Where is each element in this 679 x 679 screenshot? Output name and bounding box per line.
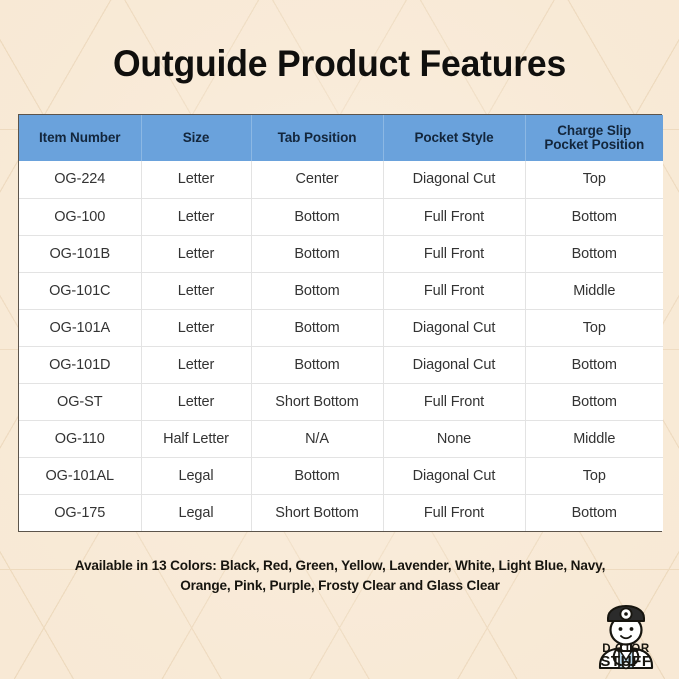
cell-item-number: OG-100 xyxy=(19,198,141,235)
color-note-line-1: Available in 13 Colors: Black, Red, Gree… xyxy=(75,558,605,573)
cell-size: Letter xyxy=(141,309,251,346)
cell-item-number: OG-101A xyxy=(19,309,141,346)
cell-size: Letter xyxy=(141,198,251,235)
cell-charge-slip-pocket-position: Top xyxy=(525,309,663,346)
cell-item-number: OG-101AL xyxy=(19,457,141,494)
cell-tab-position: Center xyxy=(251,161,383,198)
cell-charge-slip-pocket-position: Bottom xyxy=(525,346,663,383)
cell-tab-position: Bottom xyxy=(251,309,383,346)
cell-tab-position: Bottom xyxy=(251,235,383,272)
cell-charge-slip-pocket-position: Middle xyxy=(525,420,663,457)
page-title: Outguide Product Features xyxy=(14,42,666,86)
features-table: Item Number Size Tab Position Pocket Sty… xyxy=(19,115,663,531)
cell-tab-position: Bottom xyxy=(251,272,383,309)
cell-pocket-style: Diagonal Cut xyxy=(383,457,525,494)
table-row: OG-101C Letter Bottom Full Front Middle xyxy=(19,272,663,309)
cell-size: Letter xyxy=(141,161,251,198)
column-header-size: Size xyxy=(141,115,251,161)
cell-tab-position: Short Bottom xyxy=(251,494,383,531)
cell-charge-slip-pocket-position: Bottom xyxy=(525,235,663,272)
table-row: OG-101B Letter Bottom Full Front Bottom xyxy=(19,235,663,272)
cell-tab-position: Bottom xyxy=(251,457,383,494)
color-availability-note: Available in 13 Colors: Black, Red, Gree… xyxy=(70,556,610,596)
cell-size: Letter xyxy=(141,272,251,309)
color-note-line-2: Orange, Pink, Purple, Frosty Clear and G… xyxy=(180,578,500,593)
cell-charge-slip-pocket-position: Bottom xyxy=(525,494,663,531)
cell-size: Legal xyxy=(141,457,251,494)
cell-size: Letter xyxy=(141,346,251,383)
doctor-stuff-logo: ignore D CTOR STUFF xyxy=(583,604,669,674)
cell-charge-slip-pocket-position: Top xyxy=(525,161,663,198)
cell-item-number: OG-101B xyxy=(19,235,141,272)
cell-charge-slip-pocket-position: Middle xyxy=(525,272,663,309)
cell-pocket-style: Diagonal Cut xyxy=(383,161,525,198)
cell-size: Half Letter xyxy=(141,420,251,457)
column-header-line-1: Charge Slip xyxy=(557,123,631,138)
table-row: OG-101AL Legal Bottom Diagonal Cut Top xyxy=(19,457,663,494)
table-header: Item Number Size Tab Position Pocket Sty… xyxy=(19,115,663,161)
cell-pocket-style: Full Front xyxy=(383,383,525,420)
cell-pocket-style: Full Front xyxy=(383,235,525,272)
cell-pocket-style: Diagonal Cut xyxy=(383,309,525,346)
cell-size: Letter xyxy=(141,383,251,420)
cell-size: Legal xyxy=(141,494,251,531)
cell-tab-position: Bottom xyxy=(251,346,383,383)
table-row: OG-101D Letter Bottom Diagonal Cut Botto… xyxy=(19,346,663,383)
cell-pocket-style: Full Front xyxy=(383,198,525,235)
cell-tab-position: N/A xyxy=(251,420,383,457)
cell-item-number: OG-224 xyxy=(19,161,141,198)
table-header-row: Item Number Size Tab Position Pocket Sty… xyxy=(19,115,663,161)
cell-pocket-style: Diagonal Cut xyxy=(383,346,525,383)
cell-tab-position: Bottom xyxy=(251,198,383,235)
cell-pocket-style: Full Front xyxy=(383,494,525,531)
table-row: OG-ST Letter Short Bottom Full Front Bot… xyxy=(19,383,663,420)
cell-item-number: OG-110 xyxy=(19,420,141,457)
column-header-pocket-style: Pocket Style xyxy=(383,115,525,161)
column-header-charge-slip-pocket-position: Charge Slip Pocket Position xyxy=(525,115,663,161)
cell-pocket-style: None xyxy=(383,420,525,457)
poster-content: Outguide Product Features Item Number Si… xyxy=(0,0,679,679)
table-body: OG-224 Letter Center Diagonal Cut Top OG… xyxy=(19,161,663,531)
column-header-tab-position: Tab Position xyxy=(251,115,383,161)
cell-item-number: OG-ST xyxy=(19,383,141,420)
table-row: OG-110 Half Letter N/A None Middle xyxy=(19,420,663,457)
table-row: OG-175 Legal Short Bottom Full Front Bot… xyxy=(19,494,663,531)
column-header-line-2: Pocket Position xyxy=(544,137,644,152)
logo-wordmark-bottom: STUFF xyxy=(583,656,669,667)
cell-size: Letter xyxy=(141,235,251,272)
poster-page: Outguide Product Features Item Number Si… xyxy=(0,0,679,679)
cell-charge-slip-pocket-position: Top xyxy=(525,457,663,494)
features-table-container: Item Number Size Tab Position Pocket Sty… xyxy=(18,114,662,532)
cell-tab-position: Short Bottom xyxy=(251,383,383,420)
table-row: OG-100 Letter Bottom Full Front Bottom xyxy=(19,198,663,235)
table-row: OG-224 Letter Center Diagonal Cut Top xyxy=(19,161,663,198)
table-row: OG-101A Letter Bottom Diagonal Cut Top xyxy=(19,309,663,346)
cell-charge-slip-pocket-position: Bottom xyxy=(525,383,663,420)
column-header-item-number: Item Number xyxy=(19,115,141,161)
cell-item-number: OG-101C xyxy=(19,272,141,309)
cell-charge-slip-pocket-position: Bottom xyxy=(525,198,663,235)
cell-item-number: OG-101D xyxy=(19,346,141,383)
cell-pocket-style: Full Front xyxy=(383,272,525,309)
cell-item-number: OG-175 xyxy=(19,494,141,531)
